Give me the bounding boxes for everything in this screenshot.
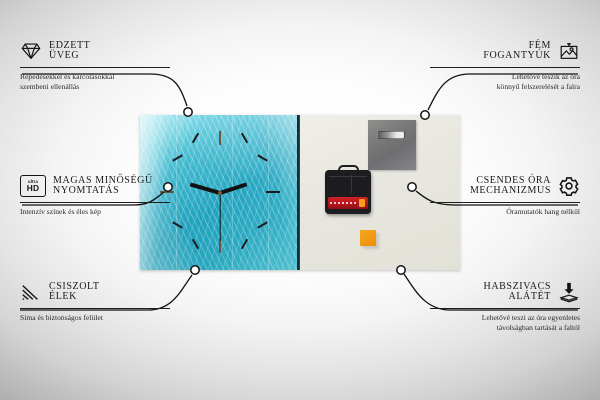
feature-divider bbox=[20, 202, 170, 203]
feature-description-line1: Intenzív színek és éles kép bbox=[20, 207, 170, 217]
feature-description-line1: Lehetővé teszik az óra bbox=[430, 72, 580, 82]
clock-tick bbox=[172, 221, 183, 228]
feature-metal-handles: FÉM FOGANTYÚK Lehetővé teszik az óra kön… bbox=[430, 40, 580, 93]
feature-polished-edges: CSISZOLT ÉLEK Sima és biztonságos felüle… bbox=[20, 281, 170, 323]
feature-divider bbox=[20, 308, 170, 309]
clock-second-hand bbox=[219, 193, 220, 241]
feature-divider bbox=[20, 67, 170, 68]
feature-description-line1: Lehetővé teszi az óra egyenletes bbox=[430, 313, 580, 323]
feature-description-line2: szembeni ellenállás bbox=[20, 82, 170, 92]
ultra-hd-hd-text: HD bbox=[27, 184, 40, 192]
feature-description-line1: Repedésekkel és karcolásokkal bbox=[20, 72, 170, 82]
clock-center-pivot bbox=[218, 191, 222, 195]
clock-mechanism bbox=[325, 170, 371, 214]
battery-label-stripe bbox=[330, 202, 356, 204]
feature-divider bbox=[430, 67, 580, 68]
feature-title-line2: ÉLEK bbox=[49, 292, 77, 303]
mechanism-ridge bbox=[351, 175, 352, 193]
feature-description-line2: könnyű felszerelését a falra bbox=[430, 82, 580, 92]
mechanism-hook bbox=[338, 165, 359, 175]
feature-divider bbox=[430, 202, 580, 203]
feature-title-line2: FOGANTYÚK bbox=[483, 51, 551, 62]
feature-description-line1: Óramutatók hang nélkül bbox=[430, 207, 580, 217]
foam-pad-icon bbox=[558, 281, 580, 303]
feature-hq-print: ultra HD MAGAS MINŐSÉGŰ NYOMTATÁS Intenz… bbox=[20, 175, 170, 217]
feature-tempered-glass: EDZETT ÜVEG Repedésekkel és karcolásokka… bbox=[20, 40, 170, 93]
diamond-icon bbox=[20, 40, 42, 62]
clock-hour-hand bbox=[219, 182, 247, 194]
feature-foam-pad: HABSZIVACS ALÁTÉT Lehetővé teszi az óra … bbox=[430, 281, 580, 334]
clock-tick bbox=[219, 131, 221, 145]
polished-edges-icon bbox=[20, 281, 42, 303]
hanger-keyhole-slot bbox=[377, 131, 405, 139]
product-image bbox=[140, 115, 460, 270]
battery bbox=[328, 197, 368, 209]
clock-tick bbox=[266, 191, 280, 193]
feature-silent-mechanism: CSENDES ÓRA MECHANIZMUS Óramutatók hang … bbox=[430, 175, 580, 217]
feature-title-line2: NYOMTATÁS bbox=[53, 186, 119, 197]
feature-description-line2: távolságban tartását a faltól bbox=[430, 323, 580, 333]
gear-icon bbox=[558, 175, 580, 197]
clock-tick bbox=[257, 154, 268, 161]
feature-divider bbox=[430, 308, 580, 309]
foam-spacer-pad bbox=[360, 230, 376, 246]
feature-description-line1: Sima és biztonságos felület bbox=[20, 313, 170, 323]
clock-tick bbox=[241, 239, 248, 250]
clock-tick bbox=[257, 221, 268, 228]
infographic-canvas: EDZETT ÜVEG Repedésekkel és karcolásokka… bbox=[0, 0, 600, 400]
clock-minute-hand bbox=[190, 183, 221, 195]
mechanism-ridge bbox=[329, 176, 367, 177]
clock-tick bbox=[241, 133, 248, 144]
clock-tick bbox=[192, 133, 199, 144]
feature-title-line2: ÜVEG bbox=[49, 51, 79, 62]
clock-tick bbox=[192, 239, 199, 250]
feature-title-line2: MECHANIZMUS bbox=[470, 186, 551, 197]
clock-tick bbox=[172, 154, 183, 161]
clock-tick bbox=[219, 239, 221, 253]
feature-title-line2: ALÁTÉT bbox=[509, 292, 551, 303]
picture-hanger-icon bbox=[558, 40, 580, 62]
ultra-hd-icon: ultra HD bbox=[20, 175, 46, 197]
metal-hanger-plate bbox=[368, 120, 416, 170]
